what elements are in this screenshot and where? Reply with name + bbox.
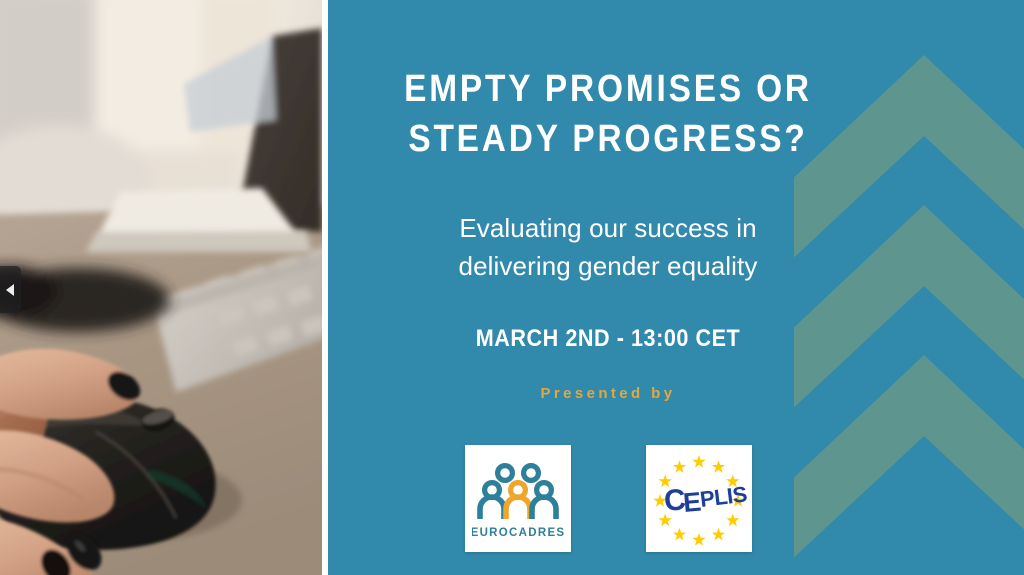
eurocadres-wordmark: EUROCADRES <box>472 527 564 539</box>
ceplis-wordmark: C E PLIS <box>662 481 746 518</box>
svg-text:PLIS: PLIS <box>698 481 746 512</box>
partner-logos: EUROCADRES <box>328 445 888 552</box>
promo-content-panel: EMPTY PROMISES OR STEADY PROGRESS? Evalu… <box>328 0 1024 575</box>
presented-by-label: Presented by <box>328 385 888 402</box>
logo-ceplis[interactable]: C E PLIS <box>646 445 752 552</box>
event-datetime: MARCH 2ND - 13:00 CET <box>356 325 860 353</box>
promo-text-block: EMPTY PROMISES OR STEADY PROGRESS? Evalu… <box>328 0 888 575</box>
hero-photo-image <box>0 0 322 575</box>
eurocadres-logo-icon: EUROCADRES <box>472 459 564 539</box>
carousel-prev-button[interactable] <box>0 266 21 313</box>
page-subtitle: Evaluating our success in delivering gen… <box>328 209 888 285</box>
logo-eurocadres[interactable]: EUROCADRES <box>465 445 571 552</box>
ceplis-logo-icon: C E PLIS <box>651 453 747 545</box>
page-title: EMPTY PROMISES OR STEADY PROGRESS? <box>362 64 855 164</box>
triangle-left-icon <box>6 284 14 296</box>
webinar-promo-slide: EMPTY PROMISES OR STEADY PROGRESS? Evalu… <box>0 0 1024 575</box>
hero-photo <box>0 0 322 575</box>
